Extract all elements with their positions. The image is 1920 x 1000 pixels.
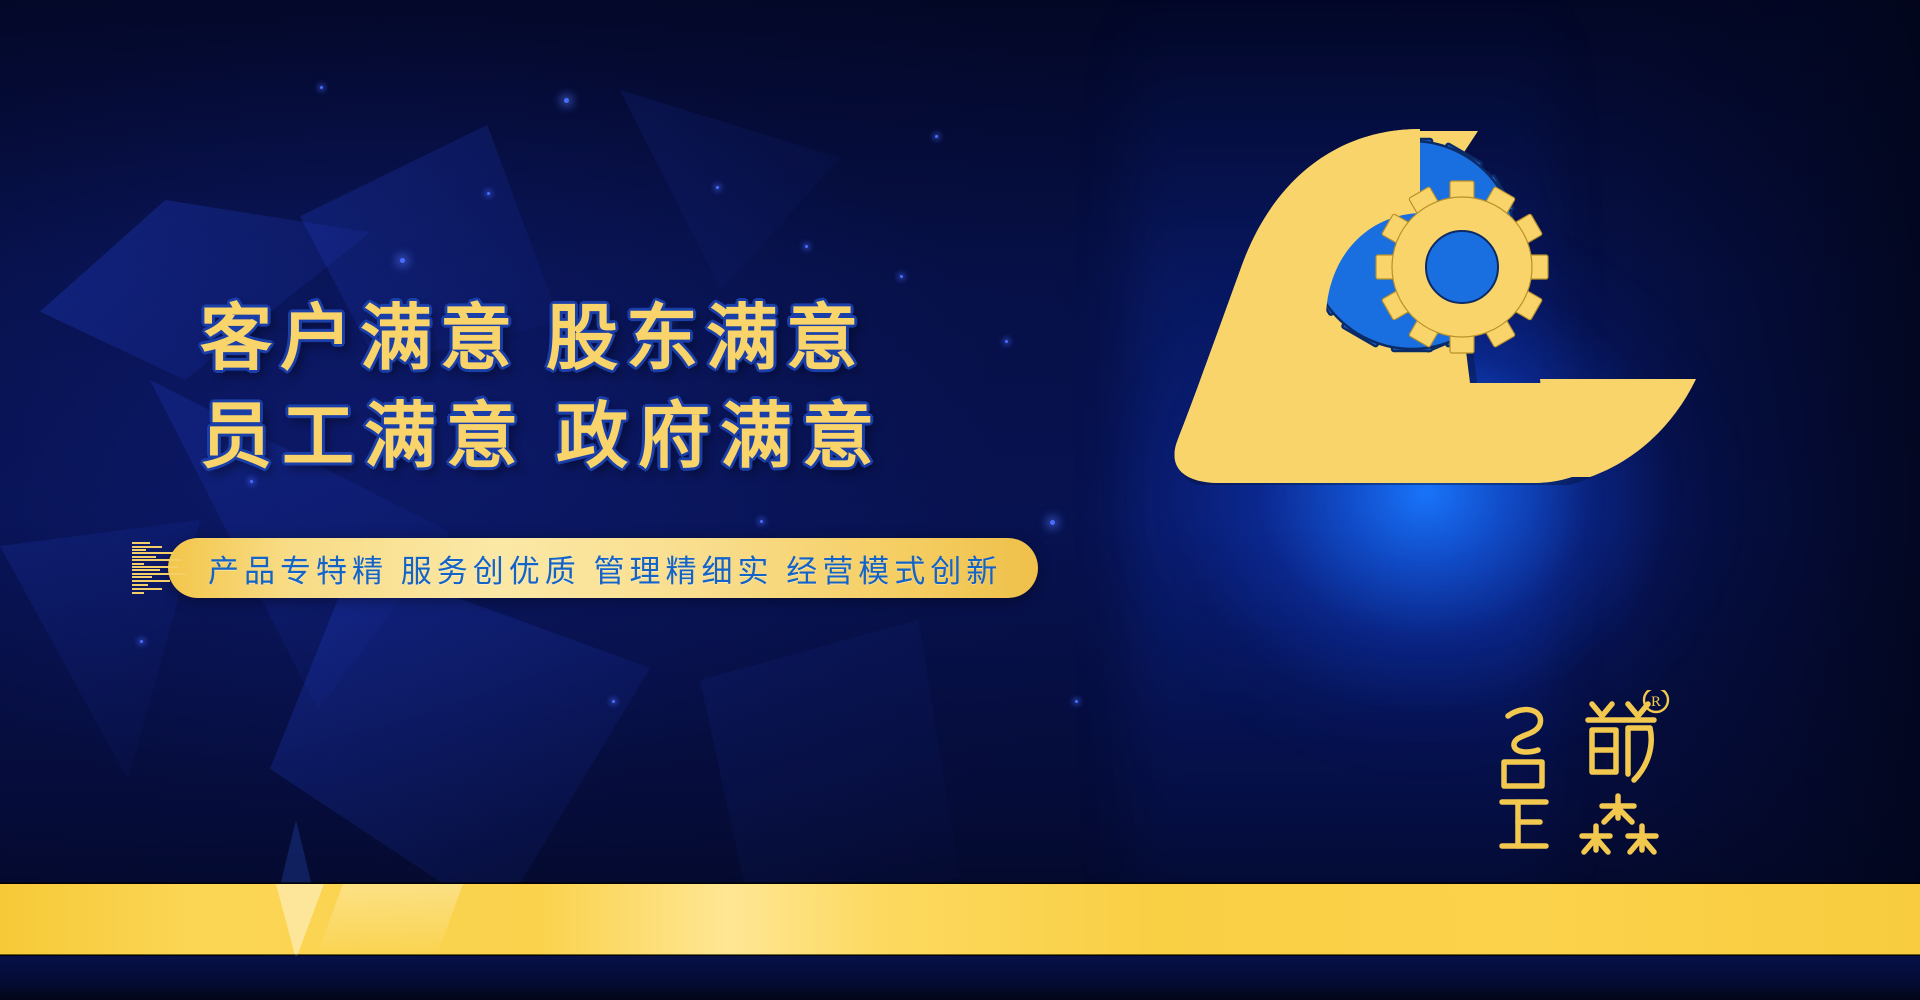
sparkle: [612, 700, 615, 703]
sparkle: [716, 186, 719, 189]
gear-crescent-logo-icon: [1120, 85, 1700, 485]
registered-trademark-icon: R: [1644, 690, 1668, 712]
band-light-triangle: [276, 884, 324, 959]
sparkle: [140, 640, 143, 643]
sparkle: [400, 258, 405, 263]
sparkle: [487, 192, 490, 195]
subtitle-pill-wrapper: 产品专特精 服务创优质 管理精细实 经营模式创新: [168, 538, 1038, 598]
headline-line-2: 员工满意 政府满意: [200, 388, 920, 486]
sparkle: [760, 520, 763, 523]
sparkle: [935, 135, 938, 138]
subtitle-pill-text: 产品专特精 服务创优质 管理精细实 经营模式创新: [208, 546, 1002, 591]
banner-canvas: 客户满意 股东满意 员工满意 政府满意 产品专特: [0, 0, 1920, 1000]
sparkle: [1075, 700, 1078, 703]
brand-wordmark: R: [1488, 690, 1678, 860]
sparkle: [564, 98, 569, 103]
sparkle: [1050, 520, 1055, 525]
sparkle: [320, 86, 323, 89]
svg-text:R: R: [1651, 694, 1661, 710]
headline-block: 客户满意 股东满意 员工满意 政府满意: [200, 290, 920, 486]
bottom-dark-strip: [0, 956, 1920, 1000]
subtitle-pill: 产品专特精 服务创优质 管理精细实 经营模式创新: [168, 538, 1038, 598]
sparkle: [805, 245, 808, 248]
sparkle: [900, 275, 903, 278]
sparkle: [1005, 340, 1008, 343]
headline-line-1: 客户满意 股东满意: [200, 290, 920, 388]
